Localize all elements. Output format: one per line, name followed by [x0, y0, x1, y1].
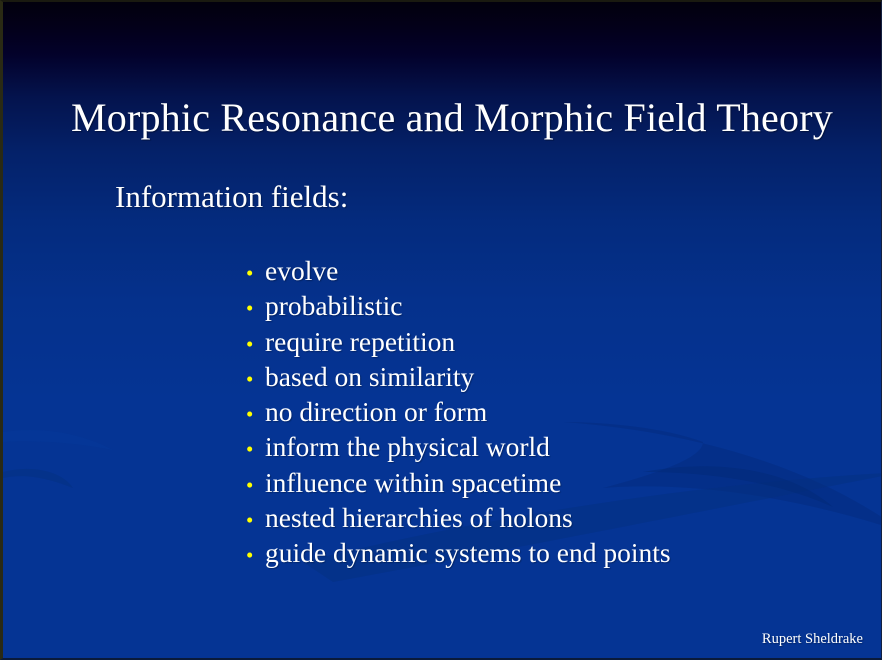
list-item: • inform the physical world: [246, 429, 671, 464]
bullet-dot-icon: •: [246, 327, 265, 362]
list-item: • probabilistic: [246, 288, 671, 323]
list-item: • require repetition: [246, 324, 671, 359]
bullet-dot-icon: •: [246, 291, 265, 326]
bullet-dot-icon: •: [246, 503, 265, 538]
bullet-dot-icon: •: [246, 256, 265, 291]
list-item-label: evolve: [265, 253, 338, 288]
bullet-dot-icon: •: [246, 362, 265, 397]
list-item: • influence within spacetime: [246, 465, 671, 500]
slide-subtitle: Information fields:: [115, 178, 348, 216]
bullet-dot-icon: •: [246, 468, 265, 503]
slide-title: Morphic Resonance and Morphic Field Theo…: [71, 94, 833, 142]
slide-footer-attribution: Rupert Sheldrake: [762, 630, 863, 648]
list-item-label: based on similarity: [265, 359, 474, 394]
list-item: • evolve: [246, 253, 671, 288]
bullet-list: • evolve • probabilistic • require repet…: [246, 253, 671, 571]
list-item: • no direction or form: [246, 394, 671, 429]
list-item-label: nested hierarchies of holons: [265, 500, 573, 535]
list-item-label: no direction or form: [265, 394, 487, 429]
bullet-dot-icon: •: [246, 397, 265, 432]
list-item-label: influence within spacetime: [265, 465, 561, 500]
list-item: • guide dynamic systems to end points: [246, 535, 671, 570]
list-item: • based on similarity: [246, 359, 671, 394]
bullet-dot-icon: •: [246, 538, 265, 573]
presentation-slide: Morphic Resonance and Morphic Field Theo…: [0, 0, 882, 660]
list-item-label: require repetition: [265, 324, 455, 359]
list-item: • nested hierarchies of holons: [246, 500, 671, 535]
list-item-label: inform the physical world: [265, 429, 550, 464]
bullet-dot-icon: •: [246, 432, 265, 467]
list-item-label: guide dynamic systems to end points: [265, 535, 671, 570]
list-item-label: probabilistic: [265, 288, 402, 323]
